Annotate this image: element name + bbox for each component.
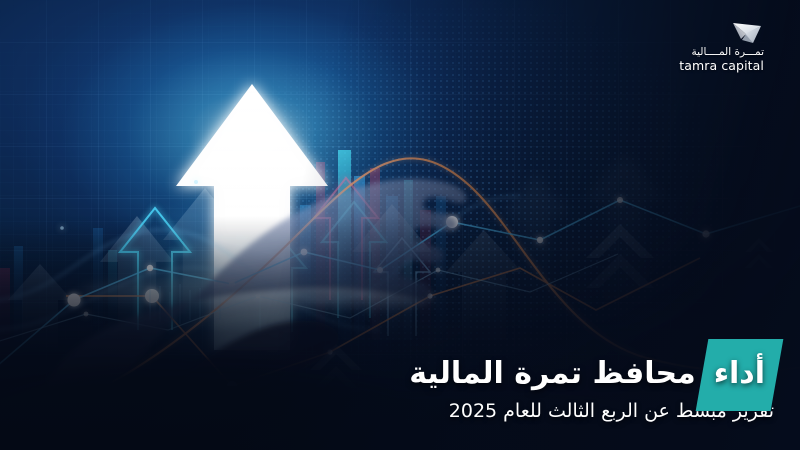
title-rest: محافظ تمرة المالية bbox=[409, 356, 696, 391]
report-cover-banner: تمـــرة المــــالية tamra capital أداء م… bbox=[0, 0, 800, 450]
title-block: أداء محافظ تمرة المالية تقرير مبسّط عن ا… bbox=[409, 356, 774, 422]
page-title: أداء محافظ تمرة المالية bbox=[409, 356, 774, 391]
tamra-capital-logo[interactable]: تمـــرة المــــالية tamra capital bbox=[679, 22, 764, 72]
title-accent-word: أداء bbox=[714, 356, 765, 391]
title-accent-highlight: أداء bbox=[705, 356, 774, 391]
logo-english-name: tamra capital bbox=[679, 60, 764, 73]
folded-paper-mark-icon bbox=[730, 22, 764, 45]
logo-arabic-name: تمـــرة المــــالية bbox=[679, 47, 764, 58]
